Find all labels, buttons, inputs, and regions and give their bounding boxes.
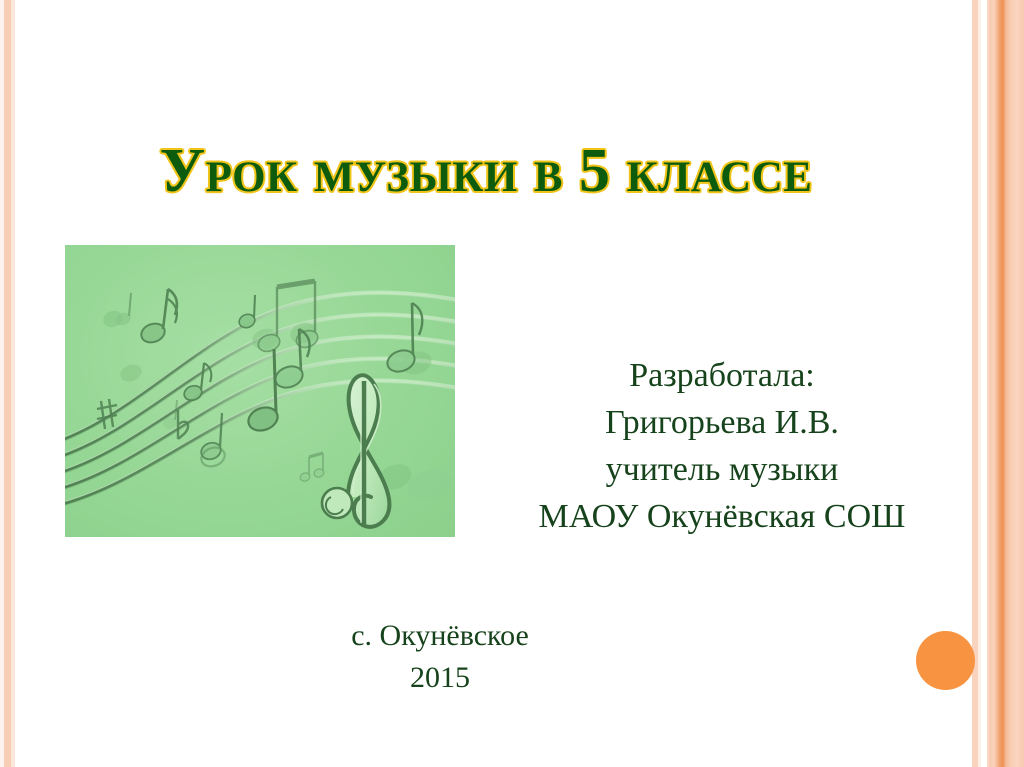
presentation-slide: Урок музыки в 5 классе xyxy=(0,0,1024,767)
right-edge-stripe-gap xyxy=(978,0,981,767)
author-line-school: МАОУ Окунёвская СОШ xyxy=(482,493,962,540)
place-and-year: с. Окунёвское 2015 xyxy=(190,615,690,699)
right-edge-stripe-band xyxy=(987,0,1024,767)
left-edge-stripe-peach xyxy=(4,0,11,767)
author-credits: Разработала: Григорьева И.В. учитель муз… xyxy=(482,352,962,540)
slide-title: Урок музыки в 5 классе xyxy=(26,135,946,207)
author-line-name: Григорьева И.В. xyxy=(482,399,962,446)
left-edge-stripe-pale xyxy=(0,0,4,767)
music-notes-image xyxy=(65,245,455,537)
accent-circle xyxy=(916,631,975,690)
author-line-role: Разработала: xyxy=(482,352,962,399)
place-village: с. Окунёвское xyxy=(190,615,690,657)
place-year: 2015 xyxy=(190,657,690,699)
left-edge-stripe-fade xyxy=(11,0,15,767)
author-line-job: учитель музыки xyxy=(482,446,962,493)
